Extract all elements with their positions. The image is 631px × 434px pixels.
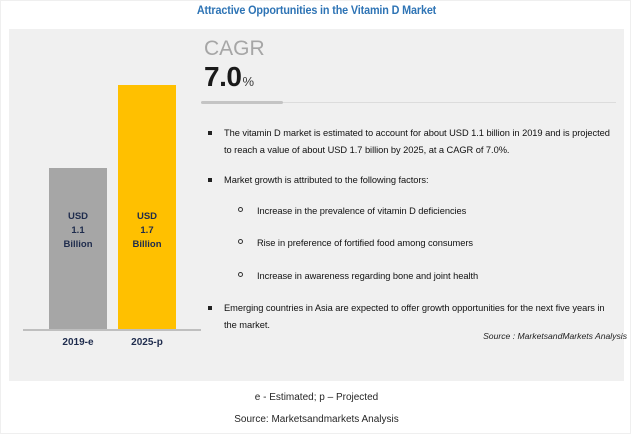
bar-2019-e-value-label: USD 1.1 Billion bbox=[49, 210, 107, 252]
cagr-label: CAGR bbox=[204, 37, 614, 61]
sublist: Increase in the prevalence of vitamin D … bbox=[206, 203, 616, 285]
chart-source-note: Source : MarketsandMarkets Analysis bbox=[227, 331, 627, 341]
bar-2025-p: USD 1.7 Billion bbox=[118, 85, 176, 329]
section-divider bbox=[201, 101, 616, 104]
chart-axis-line bbox=[23, 329, 201, 331]
sublist-item: Rise in preference of fortified food amo… bbox=[206, 235, 616, 252]
bar-2025-p-label-line3: Billion bbox=[118, 238, 176, 252]
cagr-value: 7.0 bbox=[204, 62, 241, 92]
footer-legend-note: e - Estimated; p – Projected bbox=[1, 387, 631, 409]
page-title: Attractive Opportunities in the Vitamin … bbox=[20, 5, 613, 17]
cagr-percent-sign: % bbox=[242, 74, 254, 89]
sublist-item: Increase in awareness regarding bone and… bbox=[206, 268, 616, 285]
infographic-page: Attractive Opportunities in the Vitamin … bbox=[0, 0, 631, 434]
bar-2019-e-label-line1: USD bbox=[49, 210, 107, 224]
list-item-text: The vitamin D market is estimated to acc… bbox=[224, 128, 610, 155]
cagr-block: CAGR 7.0 % bbox=[204, 37, 614, 92]
sublist-item: Increase in the prevalence of vitamin D … bbox=[206, 203, 616, 220]
list-item: The vitamin D market is estimated to acc… bbox=[206, 125, 616, 158]
square-bullet-icon bbox=[208, 178, 212, 182]
list-item: Emerging countries in Asia are expected … bbox=[206, 300, 616, 333]
bar-2025-p-value-label: USD 1.7 Billion bbox=[118, 210, 176, 252]
list-item-text: Emerging countries in Asia are expected … bbox=[224, 303, 605, 330]
bar-2025-p-label-line1: USD bbox=[118, 210, 176, 224]
circle-bullet-icon bbox=[238, 272, 243, 277]
sublist-item-text: Increase in the prevalence of vitamin D … bbox=[257, 206, 466, 216]
bar-2019-e-label-line3: Billion bbox=[49, 238, 107, 252]
bar-2019-e-label-line2: 1.1 bbox=[49, 224, 107, 238]
x-axis-tick-2019-e: 2019-e bbox=[49, 337, 107, 348]
divider-accent-line bbox=[201, 101, 283, 104]
bar-chart: USD 1.1 Billion USD 1.7 Billion 2019-e 2… bbox=[11, 29, 201, 381]
square-bullet-icon bbox=[208, 306, 212, 310]
footer-source: Source: Marketsandmarkets Analysis bbox=[1, 409, 631, 431]
footer: e - Estimated; p – Projected Source: Mar… bbox=[1, 387, 631, 431]
x-axis-tick-2025-p: 2025-p bbox=[118, 337, 176, 348]
list-item: Market growth is attributed to the follo… bbox=[206, 172, 616, 189]
bar-2025-p-label-line2: 1.7 bbox=[118, 224, 176, 238]
cagr-value-row: 7.0 % bbox=[204, 62, 614, 92]
sublist-item-text: Increase in awareness regarding bone and… bbox=[257, 271, 478, 281]
circle-bullet-icon bbox=[238, 239, 243, 244]
list-item-text: Market growth is attributed to the follo… bbox=[224, 175, 429, 185]
circle-bullet-icon bbox=[238, 207, 243, 212]
square-bullet-icon bbox=[208, 131, 212, 135]
highlights-list: The vitamin D market is estimated to acc… bbox=[206, 125, 616, 347]
bar-2019-e: USD 1.1 Billion bbox=[49, 168, 107, 329]
sublist-item-text: Rise in preference of fortified food amo… bbox=[257, 238, 473, 248]
